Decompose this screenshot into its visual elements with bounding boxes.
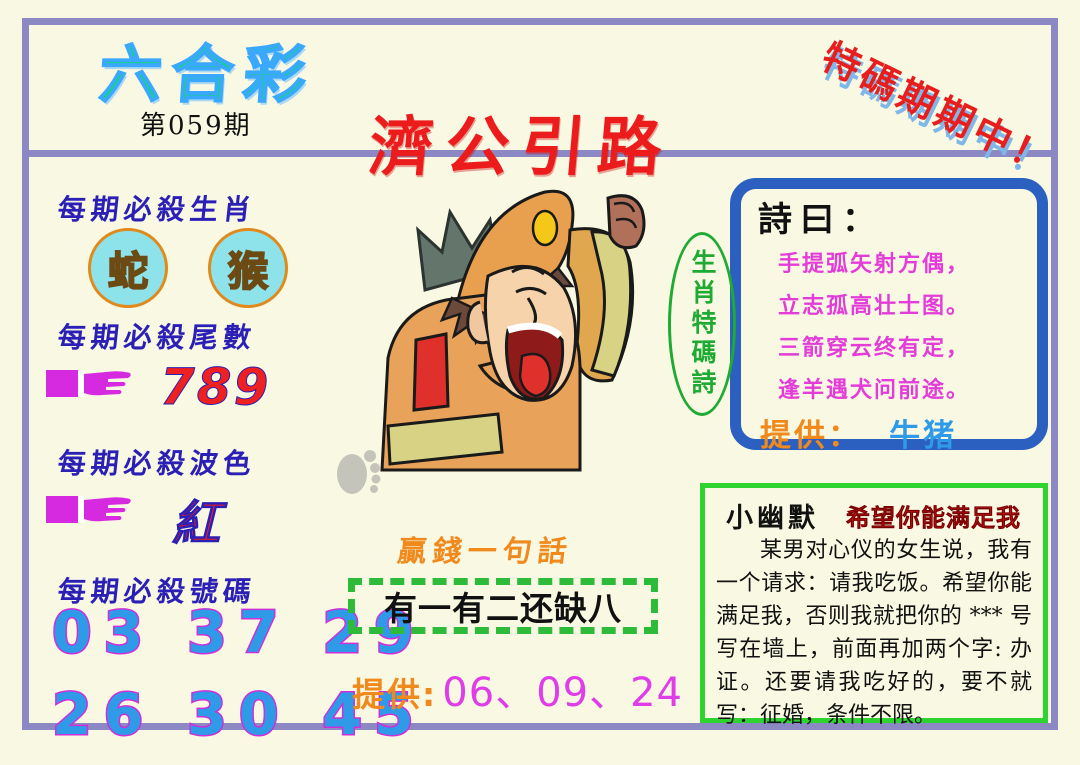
middle-supply-value: 06、09、24 [442,670,683,716]
poem-supply-row: 提供： 牛猪 [760,410,957,455]
footprint-watermark [330,438,390,498]
lottery-poster: 六合彩 第059期 濟公引路 特碼期期中！ 每期必殺生肖 蛇 猴 每期必殺尾數 … [0,0,1080,765]
color-section-label: 每期必殺波色 [56,442,258,482]
zodiac-monkey-label: 猴 [228,239,268,297]
poem-line-2: 立志孤高壮士图。 [778,288,970,320]
zodiac-circle-monkey: 猴 [208,228,288,308]
joke-body: 某男对心仪的女生说，我有一个请求：请我吃饭。希望你能满足我，否则我就把你的 **… [716,534,1032,732]
issue-number: 第059期 [140,105,252,142]
poem-line-4: 逢羊遇犬问前途。 [778,372,970,404]
poem-supply-label: 提供： [760,418,862,454]
poem-line-3: 三箭穿云终有定， [778,330,970,362]
pointing-hand-icon-2 [46,492,132,526]
poem-supply-value: 牛猪 [889,418,957,454]
color-value: 紅 [172,484,222,554]
win-phrase-title: 贏錢一句話 [395,528,575,570]
joke-content: 小幽默 希望你能满足我 某男对心仪的女生说，我有一个请求：请我吃饭。希望你能满足… [712,492,1036,714]
middle-supply-label: 提供: [352,675,437,714]
brand-title: 六合彩 [97,24,319,114]
poem-oval-label: 生肖特碼詩 [684,249,720,399]
tail-section-label: 每期必殺尾數 [56,316,258,356]
joke-title: 小幽默 [726,496,819,535]
poem-heading: 詩曰： [758,192,884,241]
middle-supply-row: 提供: 06、09、24 [352,660,683,718]
win-phrase-text: 有一有二还缺八 [384,582,622,630]
joke-subtitle: 希望你能满足我 [846,498,1021,533]
pointing-hand-icon [46,366,132,400]
poem-oval-label-box: 生肖特碼詩 [668,232,736,416]
zodiac-snake-label: 蛇 [108,239,148,297]
win-phrase-box: 有一有二还缺八 [348,578,658,634]
tail-value: 789 [160,358,270,416]
zodiac-circle-snake: 蛇 [88,228,168,308]
zodiac-section-label: 每期必殺生肖 [56,188,258,228]
poem-line-1: 手提弧矢射方偶， [778,246,970,278]
